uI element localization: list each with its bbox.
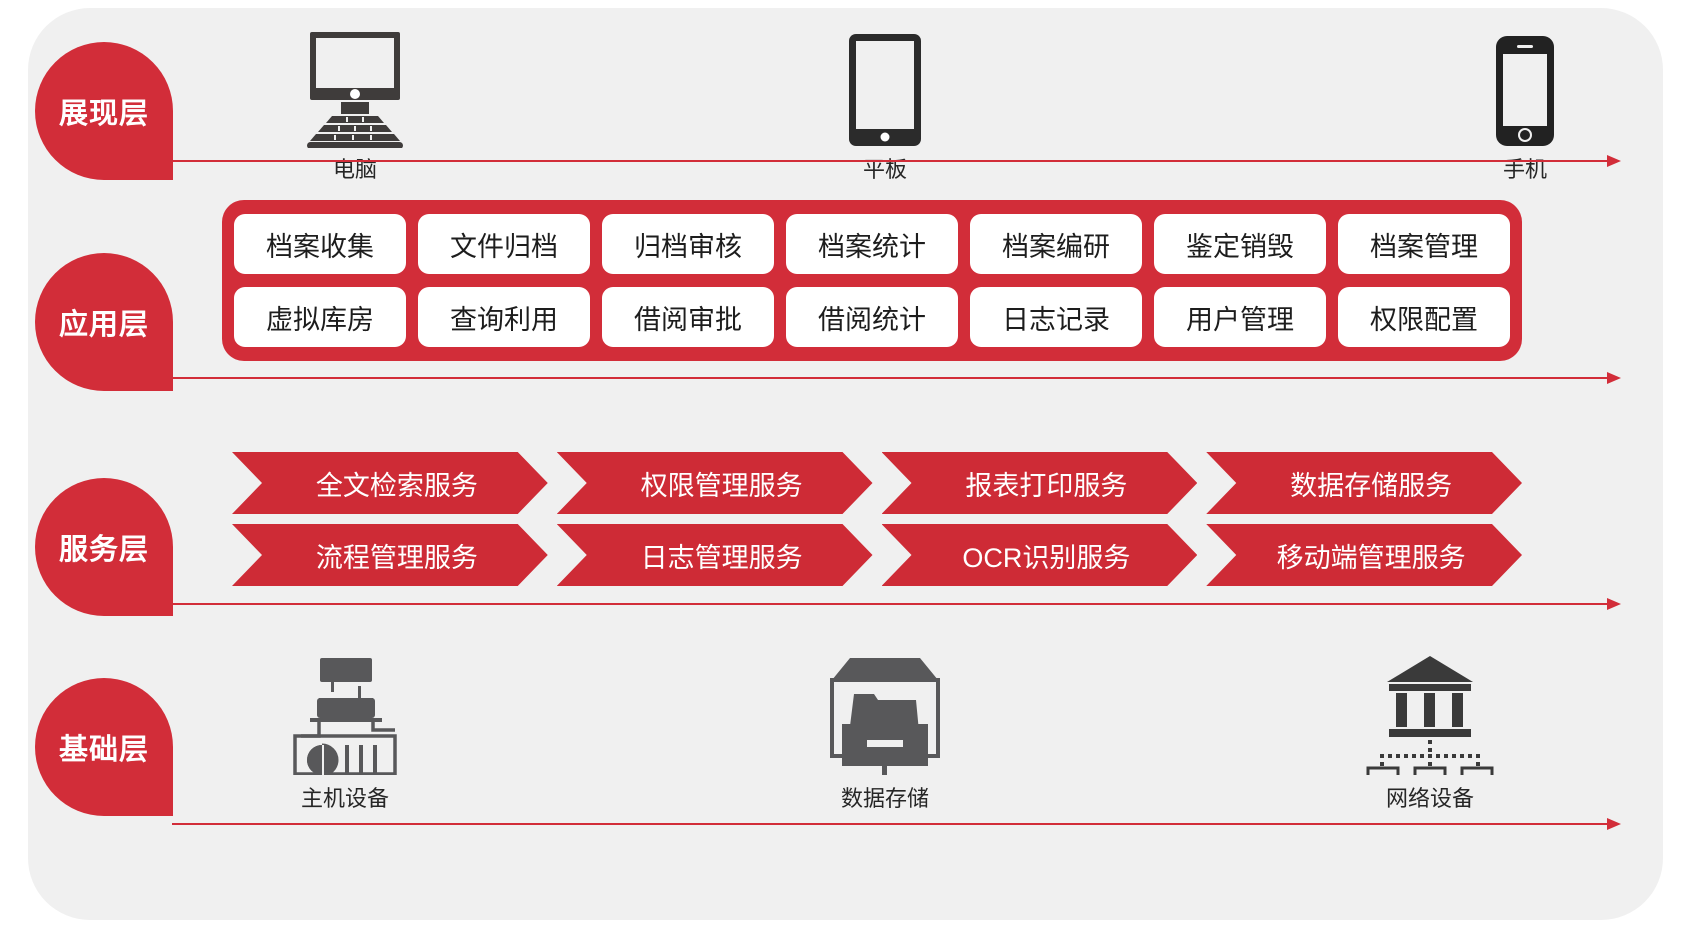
infra-item-storage: 数据存储	[805, 650, 965, 813]
layer-badge-service: 服务层	[35, 478, 173, 616]
application-modules-container: 档案收集 文件归档 归档审核 档案统计 档案编研 鉴定销毁 档案管理 虚拟库房 …	[222, 200, 1522, 361]
app-module-button[interactable]: 归档审核	[602, 214, 774, 274]
service-chevron[interactable]: 报表打印服务	[882, 452, 1198, 514]
app-module-button[interactable]: 档案收集	[234, 214, 406, 274]
infra-caption: 主机设备	[265, 781, 425, 813]
layer-badge-presentation: 展现层	[35, 42, 173, 180]
axis-line	[172, 823, 1609, 825]
infrastructure-axis-arrow	[172, 818, 1621, 830]
infra-item-network: 网络设备	[1350, 650, 1510, 813]
server-rack-icon	[265, 650, 425, 775]
architecture-diagram: 展现层	[0, 0, 1683, 936]
app-module-button[interactable]: 借阅审批	[602, 287, 774, 347]
service-row-1: 全文检索服务 权限管理服务 报表打印服务 数据存储服务	[232, 452, 1522, 514]
service-chevron[interactable]: 数据存储服务	[1206, 452, 1522, 514]
app-module-button[interactable]: 档案统计	[786, 214, 958, 274]
service-chevron[interactable]: 日志管理服务	[557, 524, 873, 586]
service-chevron[interactable]: 权限管理服务	[557, 452, 873, 514]
layer-badge-label: 应用层	[59, 301, 149, 343]
axis-line	[172, 377, 1609, 379]
application-row-2: 虚拟库房 查询利用 借阅审批 借阅统计 日志记录 用户管理 权限配置	[234, 287, 1510, 347]
infra-caption: 数据存储	[805, 781, 965, 813]
infra-item-host: 主机设备	[265, 650, 425, 813]
service-chevron[interactable]: OCR识别服务	[882, 524, 1198, 586]
app-module-button[interactable]: 日志记录	[970, 287, 1142, 347]
app-module-button[interactable]: 档案管理	[1338, 214, 1510, 274]
app-module-button[interactable]: 用户管理	[1154, 287, 1326, 347]
smartphone-icon	[1455, 28, 1595, 148]
service-chevron[interactable]: 移动端管理服务	[1206, 524, 1522, 586]
service-axis-arrow	[172, 598, 1621, 610]
axis-arrowhead-icon	[1607, 155, 1621, 167]
axis-arrowhead-icon	[1607, 372, 1621, 384]
presentation-axis-arrow	[172, 155, 1621, 167]
application-axis-arrow	[172, 372, 1621, 384]
app-module-button[interactable]: 借阅统计	[786, 287, 958, 347]
axis-arrowhead-icon	[1607, 818, 1621, 830]
application-row-1: 档案收集 文件归档 归档审核 档案统计 档案编研 鉴定销毁 档案管理	[234, 214, 1510, 274]
axis-line	[172, 160, 1609, 162]
axis-line	[172, 603, 1609, 605]
desktop-computer-icon	[275, 28, 435, 148]
file-cabinet-icon	[805, 650, 965, 775]
app-module-button[interactable]: 鉴定销毁	[1154, 214, 1326, 274]
app-module-button[interactable]: 权限配置	[1338, 287, 1510, 347]
layer-badge-label: 基础层	[59, 726, 149, 768]
network-topology-icon	[1350, 650, 1510, 775]
app-module-button[interactable]: 查询利用	[418, 287, 590, 347]
service-row-2: 流程管理服务 日志管理服务 OCR识别服务 移动端管理服务	[232, 524, 1522, 586]
app-module-button[interactable]: 档案编研	[970, 214, 1142, 274]
app-module-button[interactable]: 虚拟库房	[234, 287, 406, 347]
infra-caption: 网络设备	[1350, 781, 1510, 813]
tablet-icon	[815, 28, 955, 148]
layer-badge-application: 应用层	[35, 253, 173, 391]
service-chevron[interactable]: 全文检索服务	[232, 452, 548, 514]
axis-arrowhead-icon	[1607, 598, 1621, 610]
layer-badge-infrastructure: 基础层	[35, 678, 173, 816]
service-chevron[interactable]: 流程管理服务	[232, 524, 548, 586]
layer-badge-label: 服务层	[59, 526, 149, 568]
layer-badge-label: 展现层	[59, 90, 149, 132]
app-module-button[interactable]: 文件归档	[418, 214, 590, 274]
